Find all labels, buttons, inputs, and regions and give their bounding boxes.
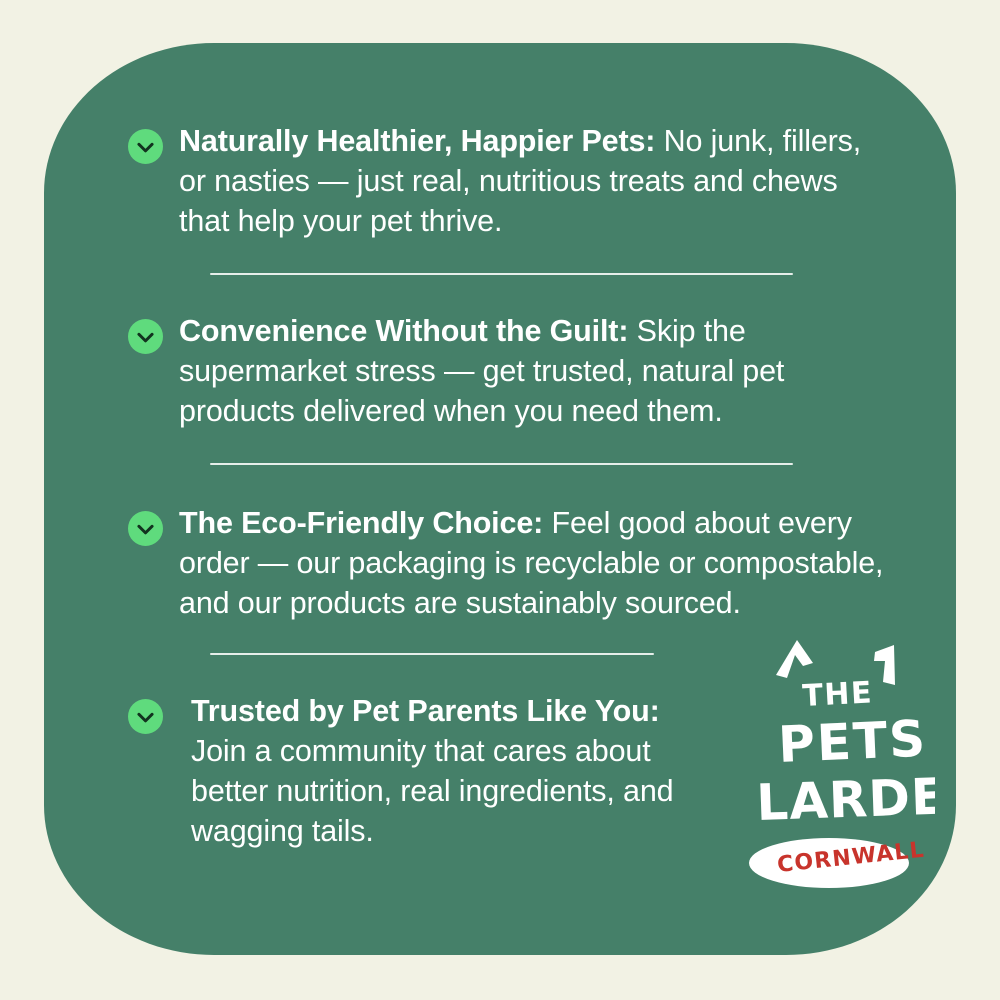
list-item: Trusted by Pet Parents Like You: Join a …: [128, 691, 888, 851]
section-divider: [210, 273, 793, 275]
check-circle-icon: [128, 511, 163, 546]
benefits-list: Naturally Healthier, Happier Pets: No ju…: [128, 121, 888, 851]
list-item: Convenience Without the Guilt: Skip the …: [128, 311, 888, 431]
poster-canvas: Naturally Healthier, Happier Pets: No ju…: [0, 0, 1000, 1000]
list-item: The Eco-Friendly Choice: Feel good about…: [128, 503, 888, 623]
benefit-lead: The Eco-Friendly Choice:: [179, 506, 543, 540]
section-divider: [210, 463, 793, 465]
benefit-lead: Naturally Healthier, Happier Pets:: [179, 124, 655, 158]
benefit-lead: Trusted by Pet Parents Like You:: [191, 694, 660, 728]
benefits-card: Naturally Healthier, Happier Pets: No ju…: [44, 43, 956, 955]
benefit-text: Convenience Without the Guilt: Skip the …: [179, 311, 888, 431]
check-circle-icon: [128, 699, 163, 734]
check-circle-icon: [128, 319, 163, 354]
benefit-lead: Convenience Without the Guilt:: [179, 314, 628, 348]
benefit-text: The Eco-Friendly Choice: Feel good about…: [179, 503, 888, 623]
check-circle-icon: [128, 129, 163, 164]
benefit-text: Naturally Healthier, Happier Pets: No ju…: [179, 121, 879, 241]
list-item: Naturally Healthier, Happier Pets: No ju…: [128, 121, 888, 241]
benefit-body: Join a community that cares about better…: [191, 734, 673, 848]
benefit-text: Trusted by Pet Parents Like You: Join a …: [191, 691, 691, 851]
section-divider: [210, 653, 654, 655]
